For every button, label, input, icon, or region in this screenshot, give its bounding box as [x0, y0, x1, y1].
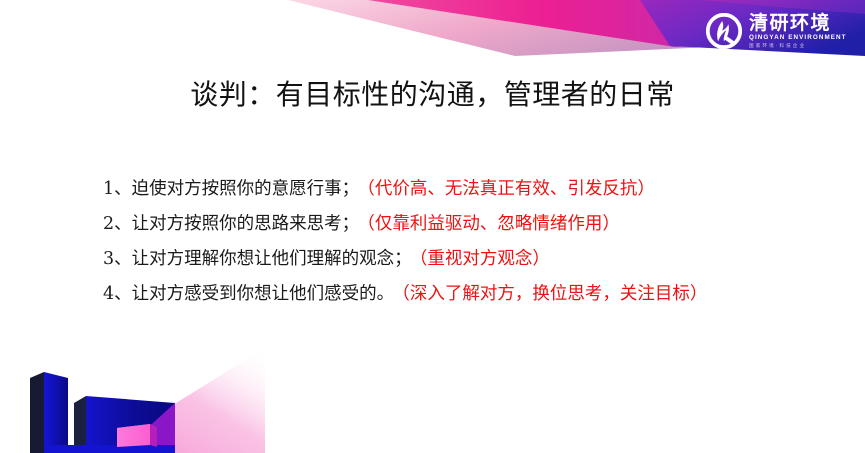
list-item-note: （深入了解对方，换位思考，关注目标）	[401, 284, 707, 304]
list-item-number: 1、	[103, 179, 132, 199]
deco-pink-box-front	[117, 424, 150, 447]
list-item-note: （重视对方观念）	[419, 249, 550, 269]
list-item-number: 4、	[103, 284, 132, 304]
list-item-text: 让对方按照你的思路来思考；	[132, 214, 360, 234]
content-list: 1、迫使对方按照你的意愿行事；（代价高、无法真正有效、引发反抗） 2、让对方按照…	[103, 172, 843, 312]
list-item-note: （代价高、无法真正有效、引发反抗）	[366, 179, 655, 199]
brand-name-en: QINGYAN ENVIRONMENT	[749, 35, 847, 41]
deco-tall-block-front	[44, 372, 68, 445]
brand-logo-text: 清研环境 QINGYAN ENVIRONMENT 国家环境·科技企业	[749, 14, 845, 48]
deco-pink-glow	[95, 348, 265, 453]
slide-canvas: 清研环境 QINGYAN ENVIRONMENT 国家环境·科技企业 谈判：有目…	[0, 0, 865, 453]
brand-tagline: 国家环境·科技企业	[749, 44, 845, 49]
bottom-left-decoration	[0, 348, 265, 453]
list-item-text: 让对方理解你想让他们理解的观念；	[132, 249, 412, 269]
list-item-number: 2、	[103, 214, 132, 234]
deco-wide-block-lit	[120, 403, 175, 453]
list-item: 3、让对方理解你想让他们理解的观念；（重视对方观念）	[103, 242, 843, 277]
deco-wide-block-front	[86, 396, 175, 453]
deco-pink-box-top	[117, 424, 157, 432]
list-item-note: （仅靠利益驱动、忽略情绪作用）	[366, 214, 620, 234]
qingyan-q-logo-icon	[706, 13, 742, 49]
deco-wide-block-side	[74, 396, 86, 453]
brand-name-cn: 清研环境	[749, 14, 845, 33]
list-item-text: 让对方感受到你想让他们感受的。	[132, 284, 395, 304]
slide-title: 谈判：有目标性的沟通，管理者的日常	[0, 73, 865, 113]
list-item-text: 迫使对方按照你的意愿行事；	[132, 179, 360, 199]
list-item: 2、让对方按照你的思路来思考；（仅靠利益驱动、忽略情绪作用）	[103, 207, 843, 242]
deco-ground-bar	[44, 445, 175, 453]
list-item: 4、让对方感受到你想让他们感受的。（深入了解对方，换位思考，关注目标）	[103, 277, 843, 312]
deco-pink-box-side	[150, 424, 157, 447]
list-item: 1、迫使对方按照你的意愿行事；（代价高、无法真正有效、引发反抗）	[103, 172, 843, 207]
list-item-number: 3、	[103, 249, 132, 269]
brand-logo: 清研环境 QINGYAN ENVIRONMENT 国家环境·科技企业	[706, 10, 852, 52]
deco-tall-block-side	[30, 372, 44, 453]
